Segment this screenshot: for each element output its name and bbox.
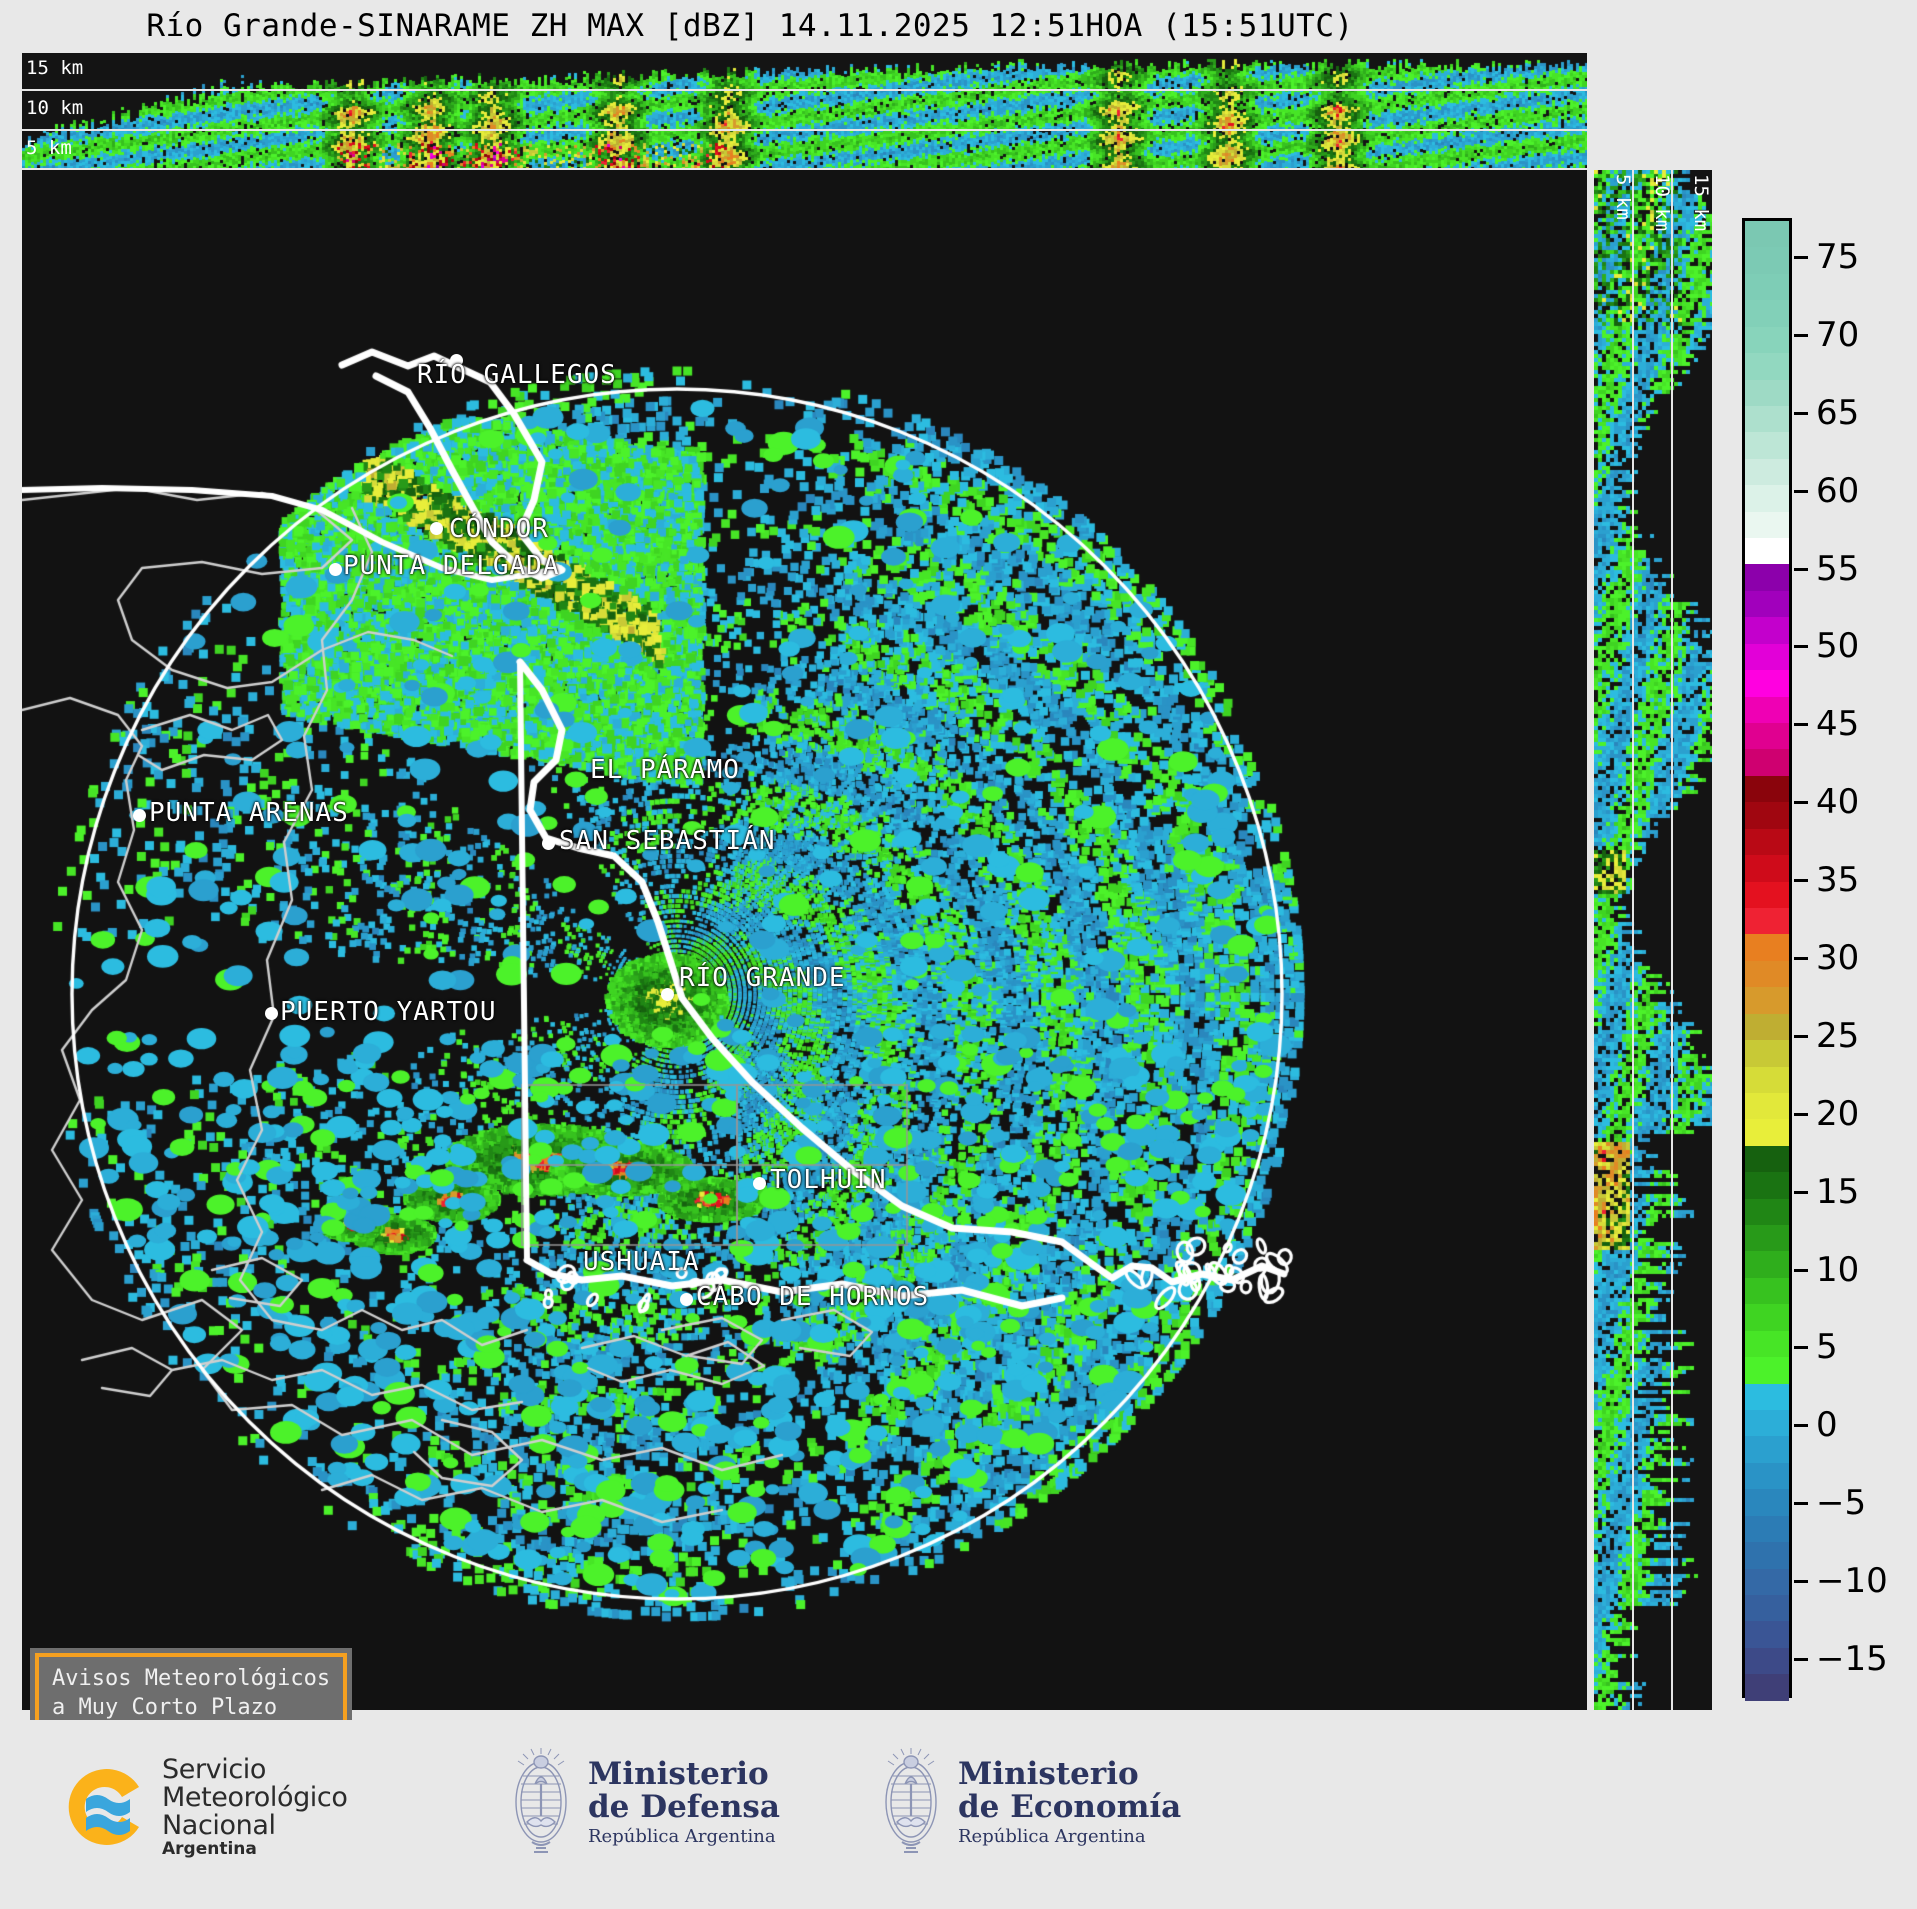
colorbar-segment <box>1745 1516 1789 1542</box>
argentina-coat-of-arms-icon-2 <box>880 1746 942 1858</box>
colorbar-tick <box>1794 256 1808 259</box>
colorbar-tick-label: 10 <box>1816 1250 1859 1290</box>
colorbar-segment <box>1745 882 1789 908</box>
colorbar-segment <box>1745 723 1789 749</box>
xsec-top-gridline-10km <box>22 129 1587 131</box>
colorbar-segment <box>1745 934 1789 960</box>
colorbar-tick <box>1794 957 1808 960</box>
colorbar-segment <box>1745 512 1789 538</box>
xsec-right-gridline-5km <box>1632 170 1634 1710</box>
colorbar-segment <box>1745 353 1789 379</box>
colorbar-segment <box>1745 776 1789 802</box>
city-label: CABO DE HORNOS <box>696 1282 929 1312</box>
city-marker-dot <box>753 1177 766 1190</box>
city-label: RÍO GRANDE <box>679 963 846 993</box>
colorbar-tick-label: 50 <box>1816 626 1859 666</box>
colorbar-segment <box>1745 749 1789 775</box>
colorbar-tick-label: 40 <box>1816 782 1859 822</box>
colorbar-tick-label: 65 <box>1816 393 1859 433</box>
page-title: Río Grande-SINARAME ZH MAX [dBZ] 14.11.2… <box>0 8 1500 44</box>
smn-emblem-icon <box>60 1763 148 1851</box>
logo-ministerio-de-defensa: Ministerio de Defensa República Argentin… <box>510 1746 780 1858</box>
colorbar-segment <box>1745 1278 1789 1304</box>
economia-logo-line-2: de Economía <box>958 1791 1181 1824</box>
colorbar-segment <box>1745 1146 1789 1172</box>
colorbar-segment <box>1745 1489 1789 1515</box>
colorbar-tick-label: −5 <box>1816 1483 1866 1523</box>
city-marker-dot <box>661 988 674 1001</box>
colorbar-segment <box>1745 1621 1789 1647</box>
city-label: PUNTA ARENAS <box>149 798 349 828</box>
colorbar-tick <box>1794 879 1808 882</box>
colorbar-tick <box>1794 645 1808 648</box>
colorbar-segment <box>1745 1014 1789 1040</box>
colorbar-tick <box>1794 1269 1808 1272</box>
radar-ppi-map[interactable]: RÍO GALLEGOSCÓNDORPUNTA DELGADAPUNTA ARE… <box>22 170 1587 1710</box>
footer-logos: Servicio Meteorológico Nacional Argentin… <box>0 1720 1917 1909</box>
colorbar-segment <box>1745 432 1789 458</box>
colorbar-segment <box>1745 1093 1789 1119</box>
city-marker-dot <box>265 1007 278 1020</box>
colorbar-tick <box>1794 1346 1808 1349</box>
colorbar-segment <box>1745 1225 1789 1251</box>
city-label: EL PÁRAMO <box>590 755 740 785</box>
city-label: PUERTO YARTOU <box>280 997 497 1027</box>
colorbar-segment <box>1745 1674 1789 1700</box>
colorbar-tick-label: 75 <box>1816 237 1859 277</box>
colorbar-segment <box>1745 538 1789 564</box>
city-label: PUNTA DELGADA <box>343 551 560 581</box>
colorbar-gradient <box>1742 218 1792 1698</box>
colorbar-segment <box>1745 485 1789 511</box>
colorbar-segment <box>1745 1331 1789 1357</box>
colorbar-segment <box>1745 247 1789 273</box>
economia-logo-subtitle: República Argentina <box>958 1827 1181 1846</box>
colorbar-segment <box>1745 327 1789 353</box>
colorbar-tick-label: 45 <box>1816 704 1859 744</box>
colorbar-tick <box>1794 1113 1808 1116</box>
colorbar-segment <box>1745 617 1789 643</box>
colorbar-segment <box>1745 1436 1789 1462</box>
colorbar-segment <box>1745 380 1789 406</box>
colorbar-segment <box>1745 274 1789 300</box>
defensa-logo-line-2: de Defensa <box>588 1791 780 1824</box>
city-label: CÓNDOR <box>449 514 549 544</box>
colorbar-tick-label: 5 <box>1816 1327 1838 1367</box>
colorbar-segment <box>1745 1040 1789 1066</box>
city-label: RÍO GALLEGOS <box>417 360 617 390</box>
colorbar-tick <box>1794 1658 1808 1661</box>
colorbar: 757065605550454035302520151050−5−10−15 <box>1742 218 1892 1698</box>
city-marker-dot <box>542 837 555 850</box>
xsec-right-gridline-10km <box>1671 170 1673 1710</box>
colorbar-segment <box>1745 1410 1789 1436</box>
colorbar-tick <box>1794 1580 1808 1583</box>
smn-logo-line-2: Meteorológico <box>162 1784 347 1812</box>
cross-section-right-panel: 5 km 10 km 15 km <box>1594 170 1712 1710</box>
colorbar-segment <box>1745 1463 1789 1489</box>
colorbar-segment <box>1745 1304 1789 1330</box>
colorbar-tick-label: 60 <box>1816 471 1859 511</box>
colorbar-segment <box>1745 1067 1789 1093</box>
colorbar-tick <box>1794 1502 1808 1505</box>
defensa-logo-line-1: Ministerio <box>588 1758 780 1791</box>
colorbar-tick <box>1794 1191 1808 1194</box>
colorbar-segment <box>1745 961 1789 987</box>
city-label: USHUAIA <box>583 1247 700 1277</box>
cross-section-top-panel: 15 km 10 km 5 km <box>22 53 1587 168</box>
colorbar-segment <box>1745 1119 1789 1145</box>
colorbar-segment <box>1745 406 1789 432</box>
colorbar-segment <box>1745 1648 1789 1674</box>
economia-logo-line-1: Ministerio <box>958 1758 1181 1791</box>
colorbar-segment <box>1745 1384 1789 1410</box>
warning-badge-line-1: Avisos Meteorológicos <box>52 1664 330 1693</box>
colorbar-tick <box>1794 490 1808 493</box>
colorbar-segment <box>1745 221 1789 247</box>
smn-logo-line-1: Servicio <box>162 1756 347 1784</box>
colorbar-segment <box>1745 1172 1789 1198</box>
colorbar-segment <box>1745 1595 1789 1621</box>
city-marker-dot <box>133 809 146 822</box>
colorbar-segment <box>1745 1569 1789 1595</box>
colorbar-tick <box>1794 801 1808 804</box>
colorbar-tick-label: 70 <box>1816 315 1859 355</box>
colorbar-tick <box>1794 723 1808 726</box>
colorbar-tick <box>1794 412 1808 415</box>
colorbar-segment <box>1745 670 1789 696</box>
colorbar-segment <box>1745 459 1789 485</box>
colorbar-tick-label: 30 <box>1816 938 1859 978</box>
colorbar-segment <box>1745 564 1789 590</box>
colorbar-tick-label: 25 <box>1816 1016 1859 1056</box>
colorbar-tick-label: 0 <box>1816 1405 1838 1445</box>
xsec-top-gridline-15km <box>22 89 1587 91</box>
colorbar-segment <box>1745 1199 1789 1225</box>
defensa-logo-subtitle: República Argentina <box>588 1827 780 1846</box>
city-marker-dot <box>329 563 342 576</box>
colorbar-segment <box>1745 802 1789 828</box>
colorbar-segment <box>1745 1357 1789 1383</box>
city-marker-dot <box>680 1293 693 1306</box>
colorbar-tick-label: 55 <box>1816 549 1859 589</box>
colorbar-tick-label: 35 <box>1816 860 1859 900</box>
colorbar-segment <box>1745 697 1789 723</box>
colorbar-segment <box>1745 1251 1789 1277</box>
logo-ministerio-de-economia: Ministerio de Economía República Argenti… <box>880 1746 1181 1858</box>
warning-badge-line-2: a Muy Corto Plazo <box>52 1693 330 1722</box>
colorbar-tick-label: −15 <box>1816 1639 1888 1679</box>
colorbar-segment <box>1745 644 1789 670</box>
colorbar-tick-label: 20 <box>1816 1094 1859 1134</box>
city-label: SAN SEBASTIÁN <box>559 826 776 856</box>
city-label: TOLHUIN <box>770 1165 887 1195</box>
smn-logo-line-3: Nacional <box>162 1812 347 1840</box>
colorbar-tick-label: 15 <box>1816 1172 1859 1212</box>
colorbar-segment <box>1745 987 1789 1013</box>
colorbar-tick <box>1794 568 1808 571</box>
colorbar-tick <box>1794 1035 1808 1038</box>
smn-logo-subtitle: Argentina <box>162 1841 347 1859</box>
colorbar-segment <box>1745 1542 1789 1568</box>
argentina-coat-of-arms-icon <box>510 1746 572 1858</box>
colorbar-tick <box>1794 334 1808 337</box>
colorbar-tick <box>1794 1424 1808 1427</box>
colorbar-tick-label: −10 <box>1816 1561 1888 1601</box>
logo-servicio-meteorologico-nacional: Servicio Meteorológico Nacional Argentin… <box>60 1756 347 1859</box>
colorbar-segment <box>1745 300 1789 326</box>
colorbar-segment <box>1745 591 1789 617</box>
colorbar-segment <box>1745 829 1789 855</box>
colorbar-segment <box>1745 908 1789 934</box>
city-marker-dot <box>430 522 443 535</box>
colorbar-segment <box>1745 855 1789 881</box>
